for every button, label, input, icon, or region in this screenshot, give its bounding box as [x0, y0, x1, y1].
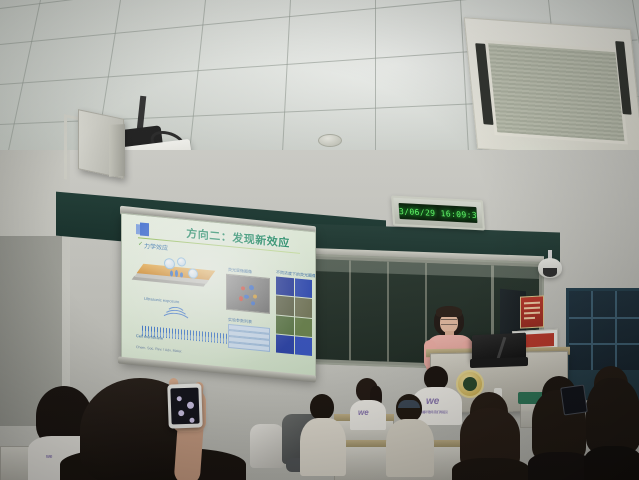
- audience-shirt: [300, 418, 346, 476]
- ac-grille: [485, 40, 628, 145]
- fire-safety-sign-red: [520, 295, 544, 328]
- smoke-detector-icon: [318, 134, 342, 147]
- cap-icon: [398, 400, 420, 408]
- tshirt-graphic: we: [358, 408, 369, 417]
- audience-shoulders: [528, 452, 592, 480]
- foreground-photographer: [60, 374, 250, 480]
- tshirt-graphic: we: [46, 454, 52, 460]
- emblem-center: [463, 377, 477, 391]
- audience-shoulders: [584, 446, 639, 480]
- speaker-grille: [109, 124, 125, 177]
- tablet-device: [560, 384, 588, 415]
- audience-hair: [586, 378, 639, 452]
- glasses-icon: [441, 319, 457, 325]
- audience-shoulders: [452, 458, 530, 480]
- camera-lens-icon: [543, 268, 557, 277]
- audience-member: [584, 366, 639, 480]
- window-mullion: [569, 317, 639, 319]
- smartphone[interactable]: [167, 383, 203, 428]
- audience-jacket: [386, 419, 434, 477]
- led-screen: 23/06/29 16:09:32: [399, 203, 478, 223]
- blackboard-seam: [387, 262, 389, 362]
- led-clock-text: 23/06/29 16:09:32: [399, 206, 478, 220]
- led-clock-display: 23/06/29 16:09:32: [391, 195, 485, 230]
- window-mullion: [569, 343, 639, 345]
- window-mullion: [615, 291, 617, 371]
- sign-text-line: [524, 312, 540, 315]
- lecture-hall-photo: 23/06/29 16:09:32 方向二：发现新效应 ✓ 力学效应: [0, 0, 639, 480]
- preview-dot: [177, 396, 182, 401]
- screen-glare: [122, 214, 315, 381]
- preview-dot: [189, 418, 194, 423]
- sign-text-line: [524, 302, 540, 305]
- laptop-screen-glare: [497, 337, 507, 359]
- audience-member: [452, 392, 528, 480]
- wall-speaker: [78, 109, 124, 179]
- audience-head: [396, 394, 422, 422]
- blackboard-seam: [349, 260, 351, 360]
- window-right: [566, 288, 639, 374]
- sign-text-line: [524, 317, 535, 320]
- cassette-air-conditioner: [464, 17, 639, 161]
- chair-back: [250, 424, 284, 468]
- sign-text-line: [524, 307, 540, 310]
- window-mullion: [591, 291, 593, 371]
- presenter-fringe: [436, 306, 462, 317]
- preview-dot: [187, 402, 194, 409]
- audience-member: we: [350, 378, 384, 434]
- audience-head: [310, 394, 334, 420]
- projection-screen: 方向二：发现新效应 ✓ 力学效应 Ultrasonic exposure Cel…: [121, 213, 316, 382]
- preview-dot: [178, 410, 184, 416]
- phone-camera-preview[interactable]: [170, 388, 199, 425]
- audience-member: [386, 394, 432, 480]
- audience-member: [300, 394, 344, 480]
